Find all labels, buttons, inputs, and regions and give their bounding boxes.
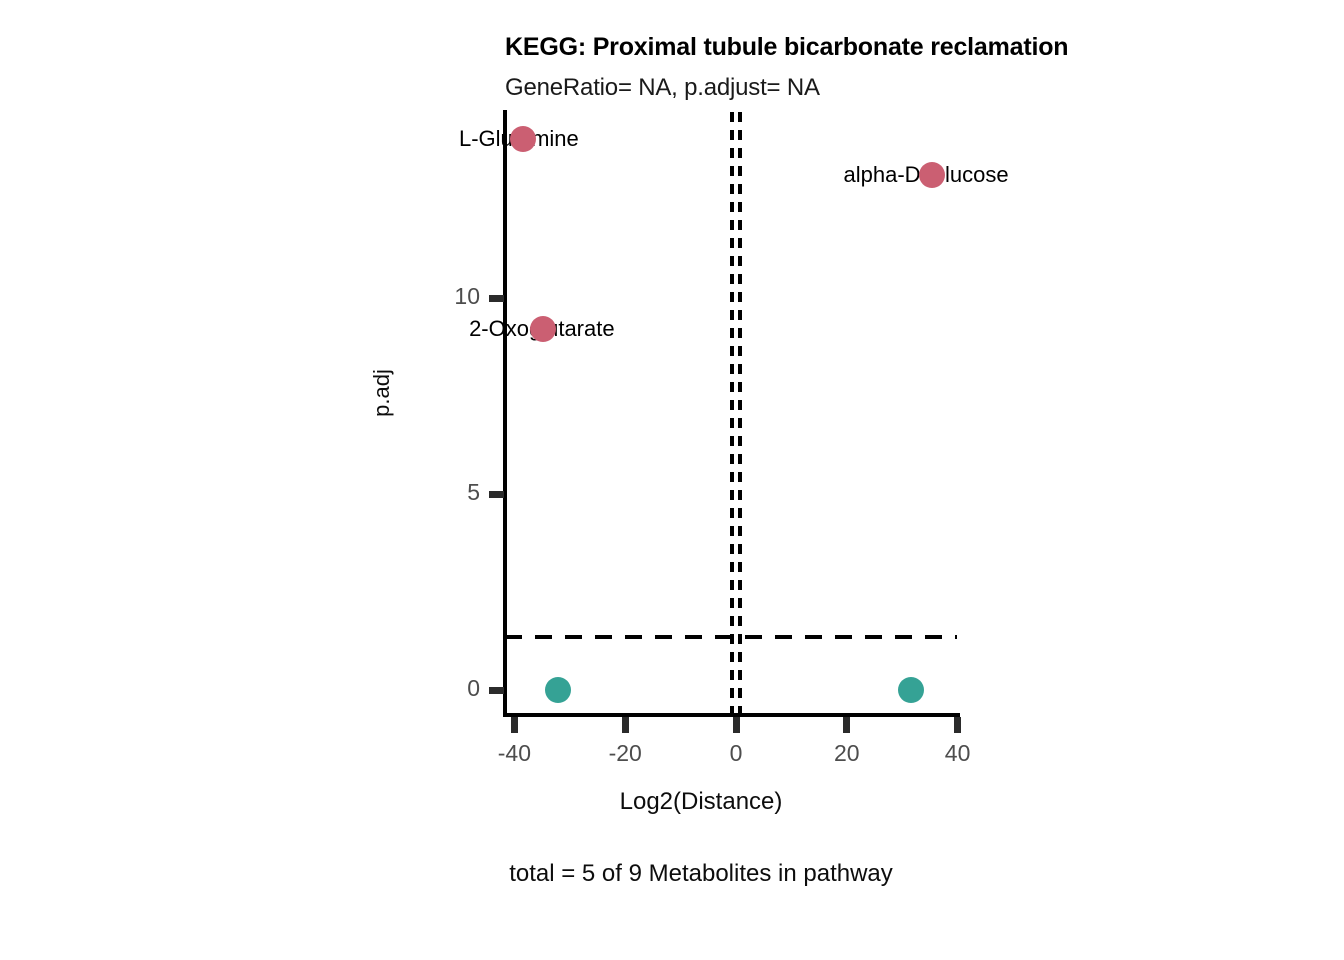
y-tick-mark [489, 687, 504, 694]
x-tick-mark [511, 717, 518, 733]
y-tick-label: 0 [420, 675, 480, 702]
y-tick-mark [489, 491, 504, 498]
chart-caption-text: total = 5 of 9 Metabolites in pathway [509, 860, 893, 887]
x-tick-label: 0 [691, 740, 781, 767]
chart-title: KEGG: Proximal tubule bicarbonate reclam… [505, 33, 1068, 62]
vertical-threshold-line [738, 112, 742, 713]
x-tick-label: -40 [469, 740, 559, 767]
horizontal-threshold-line [505, 635, 957, 639]
data-point[interactable] [919, 162, 945, 188]
x-axis-title: Log2(Distance) [0, 788, 1344, 816]
data-point[interactable] [530, 316, 556, 342]
x-tick-mark [733, 717, 740, 733]
vertical-threshold-line [730, 112, 734, 713]
y-axis-line [503, 110, 507, 717]
y-axis-title: p.adj [369, 333, 395, 453]
data-point[interactable] [545, 677, 571, 703]
x-tick-label: 20 [802, 740, 892, 767]
y-tick-label: 10 [420, 283, 480, 310]
x-axis-line [503, 713, 960, 717]
data-point[interactable] [898, 677, 924, 703]
y-tick-mark [489, 295, 504, 302]
x-tick-mark [622, 717, 629, 733]
x-tick-label: -20 [580, 740, 670, 767]
chart-caption: total = 5 of 9 Metabolites in pathway [0, 860, 1344, 888]
y-tick-label: 5 [420, 479, 480, 506]
x-tick-mark [843, 717, 850, 733]
x-tick-label: 40 [913, 740, 1003, 767]
x-axis-title-text: Log2(Distance) [620, 788, 783, 815]
data-point[interactable] [510, 126, 536, 152]
x-tick-mark [954, 717, 961, 733]
chart-subtitle: GeneRatio= NA, p.adjust= NA [505, 74, 820, 102]
chart-canvas: KEGG: Proximal tubule bicarbonate reclam… [0, 0, 1344, 960]
